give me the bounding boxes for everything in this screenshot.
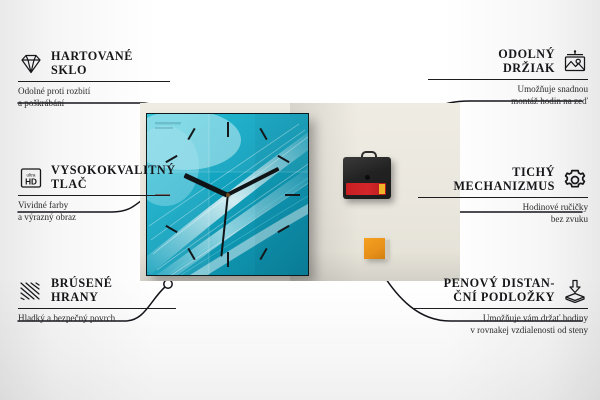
feature-high-quality-print: ultra HD VYSOKOKVALITNÝ TLAČ Vividné far… — [18, 164, 170, 223]
foam-pad-icon — [562, 279, 588, 303]
brushed-edges-icon — [18, 279, 44, 303]
center-pin — [226, 193, 230, 197]
wall-clock — [146, 113, 309, 276]
feature-head: ultra HD VYSOKOKVALITNÝ TLAČ — [18, 164, 170, 191]
feature-head: PENOVÝ DISTAN- ČNÍ PODLOŽKY — [412, 277, 588, 304]
feature-durable-holder: ODOLNÝ DRŽIAK Umožňuje snadnou montáž ho… — [428, 48, 588, 107]
tick-3 — [285, 194, 300, 196]
feature-divider — [18, 81, 170, 82]
feature-head: TICHÝ MECHANIZMUS — [418, 166, 588, 193]
feature-title: ODOLNÝ DRŽIAK — [498, 48, 555, 75]
feature-head: ODOLNÝ DRŽIAK — [428, 48, 588, 75]
feature-divider — [428, 79, 588, 80]
infographic-canvas: HARTOVANÉ SKLO Odolné proti rozbití a po… — [0, 0, 600, 400]
feature-title: TICHÝ MECHANIZMUS — [453, 166, 555, 193]
clock-dial — [147, 114, 308, 275]
feature-desc: Umožňuje vám držať hodiny v rovnakej vzd… — [412, 313, 588, 336]
foam-pad-side — [385, 239, 390, 260]
picture-frame-icon — [562, 50, 588, 74]
product-photo — [140, 103, 460, 281]
feature-title: HARTOVANÉ SKLO — [51, 50, 133, 77]
feature-desc: Hladký a bezpečný povrch — [18, 313, 176, 324]
mechanism-shaft — [365, 175, 370, 180]
hour-hand — [183, 173, 228, 197]
battery-label — [346, 183, 386, 195]
feature-silent-mechanism: TICHÝ MECHANIZMUS Hodinové ručičky bez z… — [418, 166, 588, 225]
second-hand — [220, 195, 228, 257]
feature-brushed-edges: BRÚSENÉ HRANY Hladký a bezpečný povrch — [18, 277, 176, 325]
feature-tempered-glass: HARTOVANÉ SKLO Odolné proti rozbití a po… — [18, 50, 170, 109]
mechanism-body — [343, 157, 391, 199]
feature-desc: Odolné proti rozbití a poškrábání — [18, 86, 170, 109]
feature-foam-spacers: PENOVÝ DISTAN- ČNÍ PODLOŽKY Umožňuje vám… — [412, 277, 588, 336]
feature-divider — [412, 308, 588, 309]
feature-divider — [18, 308, 176, 309]
foam-spacer-pad — [364, 238, 385, 259]
feature-head: BRÚSENÉ HRANY — [18, 277, 176, 304]
feature-desc: Vividné farby a výrazný obraz — [18, 200, 170, 223]
feature-title: BRÚSENÉ HRANY — [51, 277, 112, 304]
svg-text:HD: HD — [25, 177, 37, 186]
gear-icon — [562, 168, 588, 192]
tick-5 — [259, 248, 267, 260]
tick-10 — [165, 155, 177, 163]
tick-12 — [227, 122, 229, 137]
tick-8 — [165, 225, 177, 233]
feature-desc: Umožňuje snadnou montáž hodin na zeď — [428, 84, 588, 107]
feature-title: VYSOKOKVALITNÝ TLAČ — [51, 164, 176, 191]
tick-7 — [187, 248, 195, 260]
battery-label-accent — [379, 184, 385, 194]
feature-title: PENOVÝ DISTAN- ČNÍ PODLOŽKY — [444, 277, 555, 304]
feature-divider — [18, 195, 170, 196]
feature-divider — [418, 197, 588, 198]
clock-mechanism — [343, 151, 391, 199]
diamond-icon — [18, 52, 44, 76]
tick-4 — [277, 225, 289, 233]
tick-11 — [187, 128, 195, 140]
tick-6 — [227, 252, 229, 267]
tick-2 — [277, 155, 289, 163]
minute-hand — [226, 167, 280, 197]
ultra-hd-icon: ultra HD — [18, 166, 44, 190]
feature-head: HARTOVANÉ SKLO — [18, 50, 170, 77]
feature-desc: Hodinové ručičky bez zvuku — [418, 202, 588, 225]
tick-1 — [259, 128, 267, 140]
